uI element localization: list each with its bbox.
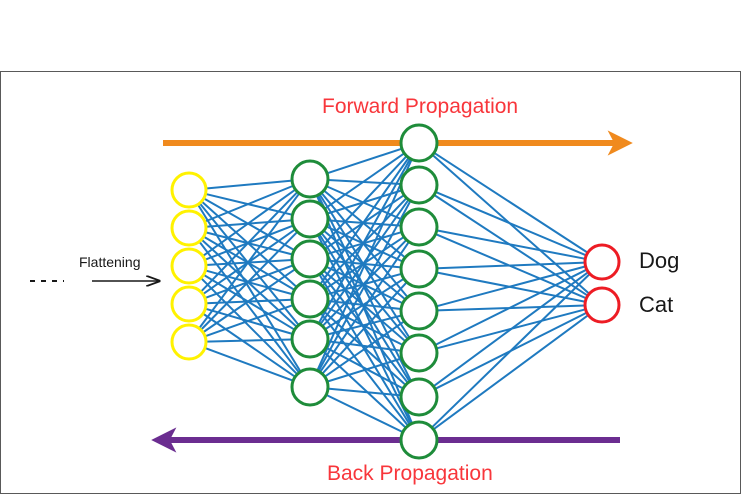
output-label-cat: Cat bbox=[639, 294, 673, 316]
network-edge bbox=[205, 186, 294, 222]
output-label-dog: Dog bbox=[639, 250, 679, 272]
network-edge bbox=[206, 339, 292, 341]
network-edge bbox=[317, 159, 411, 370]
hidden-layer-1-node bbox=[292, 161, 328, 197]
input-layer-node bbox=[172, 211, 206, 245]
hidden-layer-1-node bbox=[292, 201, 328, 237]
network-edge bbox=[205, 348, 293, 381]
hidden-layer-2-node bbox=[401, 167, 437, 203]
hidden-layer-1-node bbox=[292, 321, 328, 357]
hidden-layer-1-node bbox=[292, 241, 328, 277]
input-layer-node bbox=[172, 173, 206, 207]
network-edge bbox=[433, 315, 588, 429]
neural-network-graphic bbox=[0, 0, 743, 497]
network-edge bbox=[434, 153, 588, 253]
hidden-layer-1-node bbox=[292, 281, 328, 317]
hidden-layer-1-node bbox=[292, 369, 328, 405]
network-edge bbox=[206, 181, 292, 189]
network-edges bbox=[198, 149, 590, 432]
hidden-layer-2-node bbox=[401, 293, 437, 329]
flattening-label: Flattening bbox=[79, 255, 140, 269]
back-propagation-label: Back Propagation bbox=[327, 463, 493, 484]
network-edge bbox=[437, 263, 585, 269]
forward-propagation-label: Forward Propagation bbox=[322, 96, 518, 117]
hidden-layer-2-node bbox=[401, 379, 437, 415]
input-layer-node bbox=[172, 287, 206, 321]
network-edge bbox=[433, 272, 588, 386]
input-layer-node bbox=[172, 249, 206, 283]
hidden-layer-2-node bbox=[401, 125, 437, 161]
hidden-layer-2-node bbox=[401, 209, 437, 245]
hidden-layer-2-node bbox=[401, 335, 437, 371]
input-layer-node bbox=[172, 325, 206, 359]
output-layer-node bbox=[585, 245, 619, 279]
output-layer-node bbox=[585, 288, 619, 322]
network-edge bbox=[327, 149, 402, 174]
hidden-layer-2-node bbox=[401, 422, 437, 458]
network-edge bbox=[432, 274, 590, 428]
hidden-layer-2-node bbox=[401, 251, 437, 287]
diagram-canvas: Forward Propagation Back Propagation Fla… bbox=[0, 0, 743, 497]
